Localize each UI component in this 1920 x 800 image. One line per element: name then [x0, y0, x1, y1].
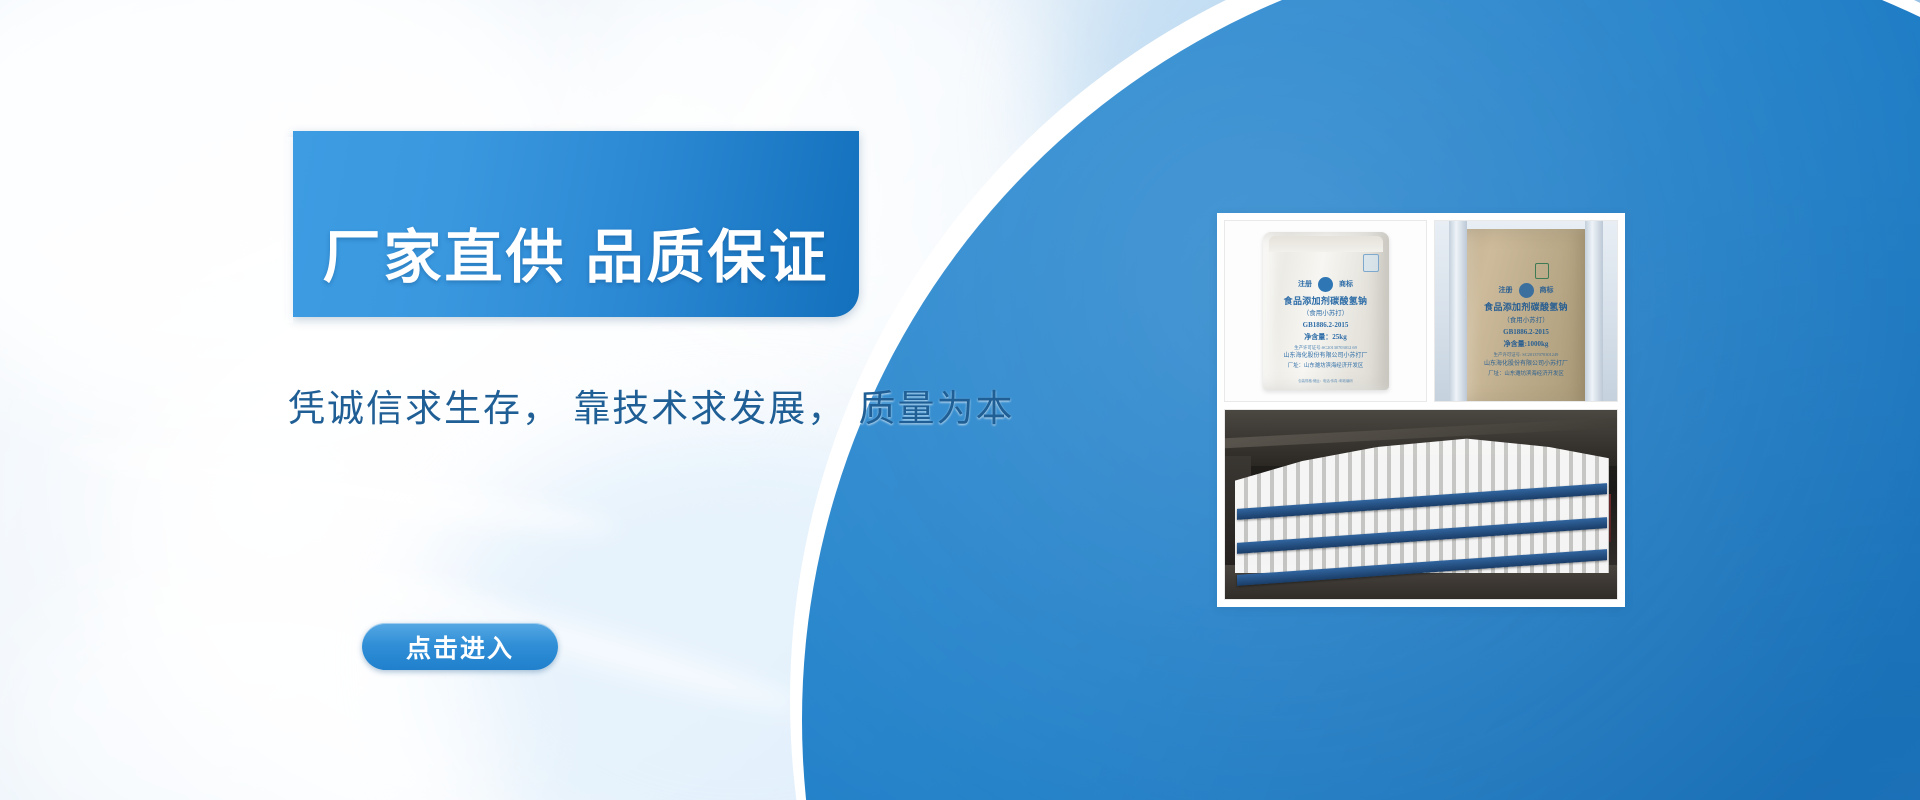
jumbo-address: 厂址：山东潍坊滨海经济开发区: [1461, 371, 1591, 378]
bag-standard-code: GB1886.2-2015: [1263, 321, 1389, 330]
jumbo-bag-print-label: 注册 商标 食品添加剂碳酸氢钠 （食用小苏打） GB1886.2-2015 净含…: [1461, 283, 1591, 378]
trademark-seal-icon: [1318, 277, 1333, 292]
bag-company-name: 山东海化股份有限公司小苏打厂: [1263, 353, 1389, 361]
bag-address: 厂址：山东潍坊滨海经济开发区: [1263, 363, 1389, 370]
bag-footnote: 包装规格/储运：电话/传真 /邮政编码: [1263, 379, 1389, 383]
trademark-seal-icon: [1519, 283, 1534, 298]
bag-registered-right: 商标: [1339, 280, 1353, 289]
bag-product-alias: （食用小苏打）: [1263, 310, 1389, 318]
enter-site-button[interactable]: 点击进入: [362, 623, 558, 670]
tagline-text: 凭诚信求生存， 靠技术求发展， 质量为本: [288, 378, 1188, 432]
plaque-left-edge: [286, 137, 293, 323]
bag-license-number: 生产许可证号:SC20130703012 69: [1263, 345, 1389, 351]
recycle-mark-icon: [1363, 254, 1379, 272]
jumbo-product-name: 食品添加剂碳酸氢钠: [1461, 302, 1591, 314]
gallery-top-row: 注册 商标 食品添加剂碳酸氢钠 （食用小苏打） GB1886.2-2015 净含…: [1224, 220, 1618, 402]
bag-net-weight: 净含量：25kg: [1263, 333, 1389, 342]
bag-registered-left: 注册: [1298, 280, 1312, 289]
recycle-mark-icon: [1535, 263, 1549, 279]
product-photo-warehouse[interactable]: [1224, 409, 1618, 600]
bag-body: 注册 商标 食品添加剂碳酸氢钠 （食用小苏打） GB1886.2-2015 净含…: [1263, 232, 1389, 390]
jumbo-net-weight: 净含量:1000kg: [1461, 340, 1591, 349]
product-photo-1000kg-bag[interactable]: 注册 商标 食品添加剂碳酸氢钠 （食用小苏打） GB1886.2-2015 净含…: [1434, 220, 1618, 402]
bag-product-name: 食品添加剂碳酸氢钠: [1263, 296, 1389, 307]
headline-plaque: 厂家直供 品质保证: [293, 131, 859, 317]
product-photo-25kg-bag[interactable]: 注册 商标 食品添加剂碳酸氢钠 （食用小苏打） GB1886.2-2015 净含…: [1224, 220, 1427, 402]
jumbo-registered-left: 注册: [1499, 286, 1513, 295]
promo-banner: 厂家直供 品质保证 凭诚信求生存， 靠技术求发展， 质量为本 点击进入 注册 商…: [0, 0, 1920, 800]
jumbo-company-name: 山东海化股份有限公司小苏打厂: [1461, 361, 1591, 369]
bag-print-label: 注册 商标 食品添加剂碳酸氢钠 （食用小苏打） GB1886.2-2015 净含…: [1263, 277, 1389, 383]
jumbo-product-alias: （食用小苏打）: [1461, 317, 1591, 325]
jumbo-license-number: 生产许可证号: SC20137070301249: [1461, 352, 1591, 358]
product-gallery: 注册 商标 食品添加剂碳酸氢钠 （食用小苏打） GB1886.2-2015 净含…: [1217, 213, 1625, 607]
jumbo-standard-code: GB1886.2-2015: [1461, 328, 1591, 337]
jumbo-registered-right: 商标: [1540, 286, 1554, 295]
headline-text: 厂家直供 品质保证: [322, 210, 829, 294]
